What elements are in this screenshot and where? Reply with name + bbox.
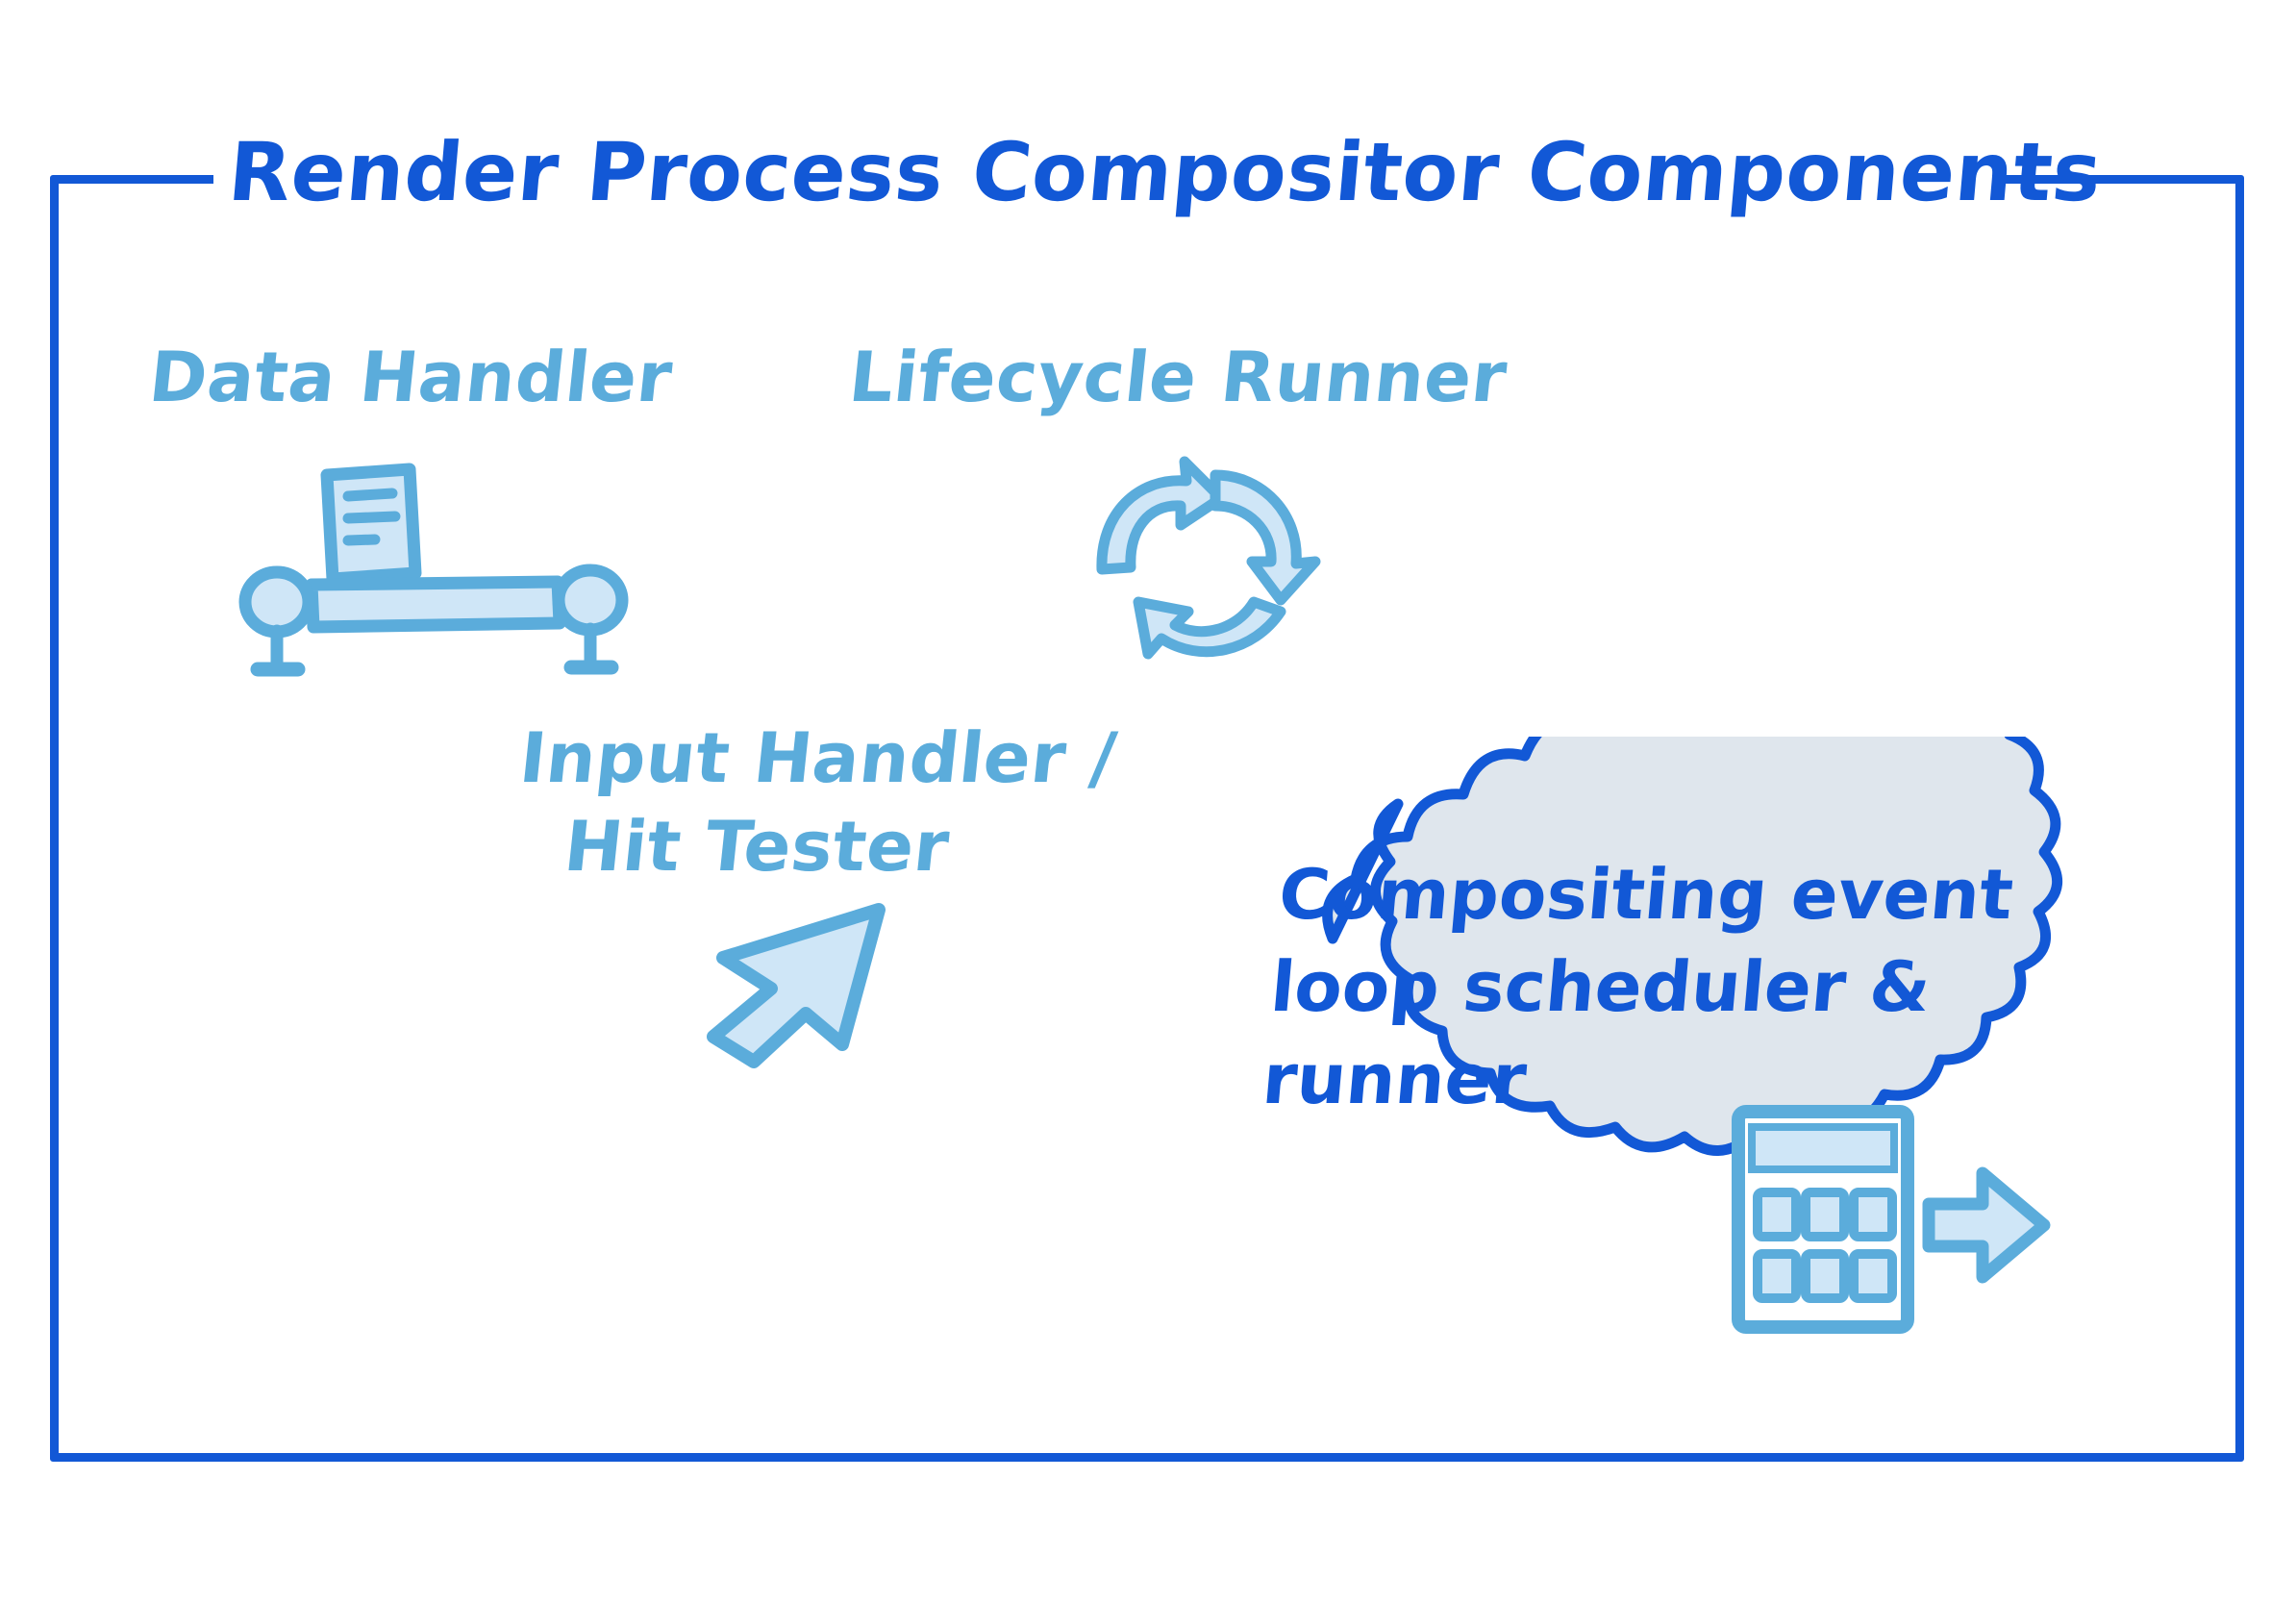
- compositing-event-loop-cloud: Compositing eventloop scheduler &runner: [1188, 737, 2223, 1383]
- cycle-arrows-icon: [1092, 456, 1344, 675]
- component-label-lifecycle-runner: Lifecycle Runner: [846, 338, 1511, 415]
- conveyor-document-icon: [238, 448, 642, 690]
- page-title: Render Process Compositor Components: [225, 128, 2105, 216]
- cloud-text-line1: Compositing event: [1276, 854, 2016, 935]
- mouse-cursor-icon: [698, 900, 906, 1069]
- cloud-text-line2: loop scheduler &: [1267, 946, 1934, 1027]
- component-label-data-handler: Data Handler: [146, 338, 677, 415]
- component-label-input-handler-hit-tester: Input Handler /Hit Tester: [507, 714, 1121, 890]
- calendar-arrow-icon: [1723, 1100, 2059, 1341]
- diagram-canvas: Render Process Compositor Components Dat…: [0, 0, 2296, 1604]
- input-handler-line2: Hit Tester: [561, 802, 954, 890]
- cloud-text: Compositing eventloop scheduler &runner: [1259, 848, 2071, 1125]
- cloud-text-line3: runner: [1260, 1039, 1530, 1119]
- input-handler-line1: Input Handler /: [516, 717, 1121, 798]
